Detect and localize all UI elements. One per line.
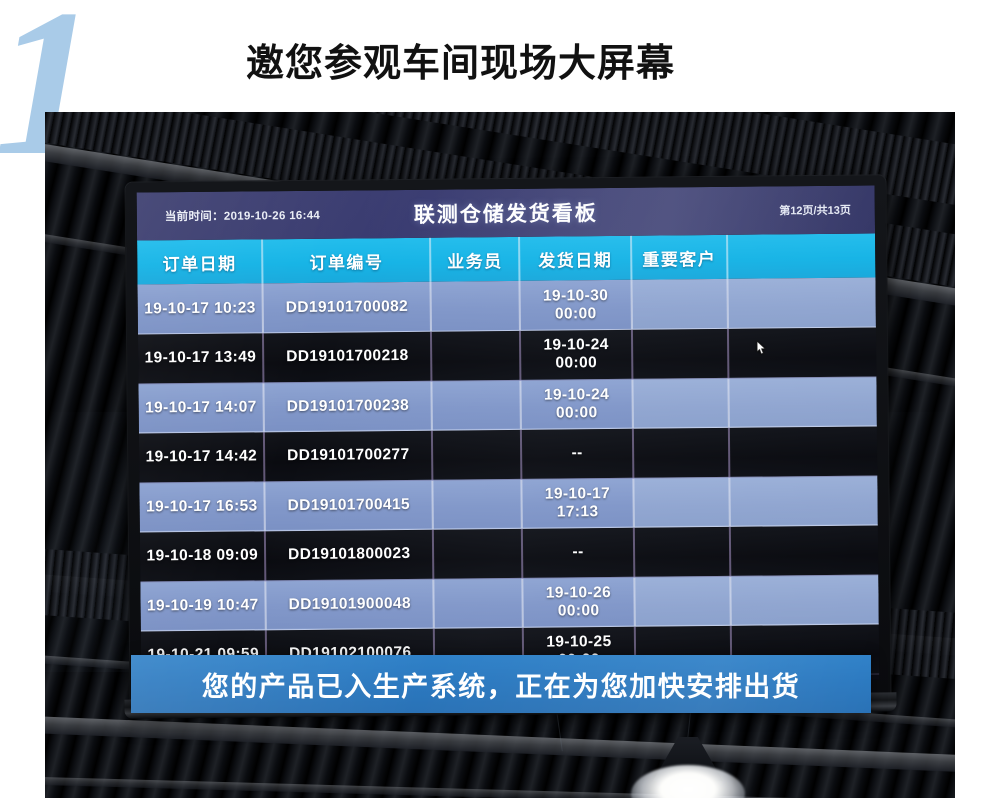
cell-extra <box>730 525 878 576</box>
cell-extra <box>731 574 879 625</box>
cell-ship-date: -- <box>521 428 633 479</box>
cell-salesperson <box>431 330 521 380</box>
cell-order-no: DD19101700415 <box>265 480 433 531</box>
cell-ship-date: 19-10-26 00:00 <box>523 577 635 628</box>
table-row: 19-10-17 16:53 DD19101700415 19-10-17 17… <box>139 475 877 532</box>
cell-order-no: DD19101700277 <box>264 430 432 481</box>
cell-order-no: DD19101700218 <box>263 331 431 382</box>
cell-key-customer <box>634 576 731 626</box>
cell-order-date: 19-10-17 16:53 <box>139 481 265 532</box>
column-header-order-date: 订单日期 <box>137 239 263 284</box>
cell-salesperson <box>433 578 523 628</box>
cell-ship-date: 19-10-24 00:00 <box>520 329 632 380</box>
cell-order-no: DD19101800023 <box>265 529 433 580</box>
wall-display-monitor: 当前时间：2019-10-26 16:44 联测仓储发货看板 第12页/共13页… <box>126 175 891 704</box>
table-row: 19-10-18 09:09 DD19101800023 -- <box>140 525 878 582</box>
table-row: 19-10-17 14:42 DD19101700277 -- <box>139 426 877 483</box>
cell-salesperson <box>430 281 520 331</box>
cell-extra <box>729 426 877 477</box>
cell-ship-date: 19-10-24 00:00 <box>521 379 633 430</box>
slide-root: 1 邀您参观车间现场大屏幕 当前时间：2019-10-26 16:44 联测仓储… <box>0 0 1000 798</box>
caption-banner: 您的产品已入生产系统，正在为您加快安排出货 <box>131 655 871 713</box>
table-row: 19-10-17 13:49 DD19101700218 19-10-24 00… <box>138 327 876 384</box>
cell-key-customer <box>631 279 728 329</box>
cell-order-no: DD19101700238 <box>264 381 432 432</box>
cell-extra <box>730 475 878 526</box>
table-header-row: 订单日期 订单编号 业务员 发货日期 重要客户 <box>137 233 875 284</box>
cell-ship-date: 19-10-17 17:13 <box>522 478 634 529</box>
table-row: 19-10-17 14:07 DD19101700238 19-10-24 00… <box>138 376 876 433</box>
cell-ship-date: -- <box>522 527 634 578</box>
cell-salesperson <box>432 479 522 529</box>
caption-text: 您的产品已入生产系统，正在为您加快安排出货 <box>202 665 801 704</box>
cell-order-date: 19-10-19 10:47 <box>140 580 266 631</box>
cell-order-no: DD19101900048 <box>266 579 434 630</box>
cell-extra <box>728 277 876 328</box>
lamp-bulb <box>631 765 745 798</box>
cell-salesperson <box>431 380 521 430</box>
column-header-key-customer: 重要客户 <box>631 235 728 280</box>
cell-key-customer <box>633 477 730 527</box>
page-indicator: 第12页/共13页 <box>779 202 851 219</box>
cell-order-no: DD19101700082 <box>263 282 431 333</box>
column-header-ship-date: 发货日期 <box>519 236 631 281</box>
table-row: 19-10-17 10:23 DD19101700082 19-10-30 00… <box>137 277 875 334</box>
table-row: 19-10-19 10:47 DD19101900048 19-10-26 00… <box>140 574 878 631</box>
cell-key-customer <box>634 526 731 576</box>
ceiling-lamp <box>613 737 763 798</box>
cell-key-customer <box>632 328 729 378</box>
cell-key-customer <box>633 427 730 477</box>
cell-order-date: 19-10-17 14:42 <box>139 432 265 483</box>
dashboard-header: 当前时间：2019-10-26 16:44 联测仓储发货看板 第12页/共13页 <box>137 185 875 240</box>
workshop-photo: 当前时间：2019-10-26 16:44 联测仓储发货看板 第12页/共13页… <box>45 112 955 798</box>
cell-salesperson <box>432 429 522 479</box>
cell-key-customer <box>632 378 729 428</box>
current-time-label: 当前时间：2019-10-26 16:44 <box>165 207 320 224</box>
cell-extra <box>729 376 877 427</box>
shipment-board-table: 订单日期 订单编号 业务员 发货日期 重要客户 19-10-17 10:23 D… <box>137 233 879 681</box>
cell-order-date: 19-10-17 10:23 <box>137 283 263 334</box>
cell-salesperson <box>433 528 523 578</box>
cell-order-date: 19-10-18 09:09 <box>140 531 266 582</box>
column-header-blank <box>727 233 875 278</box>
column-header-salesperson: 业务员 <box>430 237 520 282</box>
page-title: 邀您参观车间现场大屏幕 <box>246 32 675 87</box>
dashboard-screen: 当前时间：2019-10-26 16:44 联测仓储发货看板 第12页/共13页… <box>137 185 880 686</box>
cell-ship-date: 19-10-30 00:00 <box>520 280 632 331</box>
cell-order-date: 19-10-17 14:07 <box>138 382 264 433</box>
column-header-order-no: 订单编号 <box>263 238 431 284</box>
cell-order-date: 19-10-17 13:49 <box>138 333 264 384</box>
cell-extra <box>728 327 876 378</box>
